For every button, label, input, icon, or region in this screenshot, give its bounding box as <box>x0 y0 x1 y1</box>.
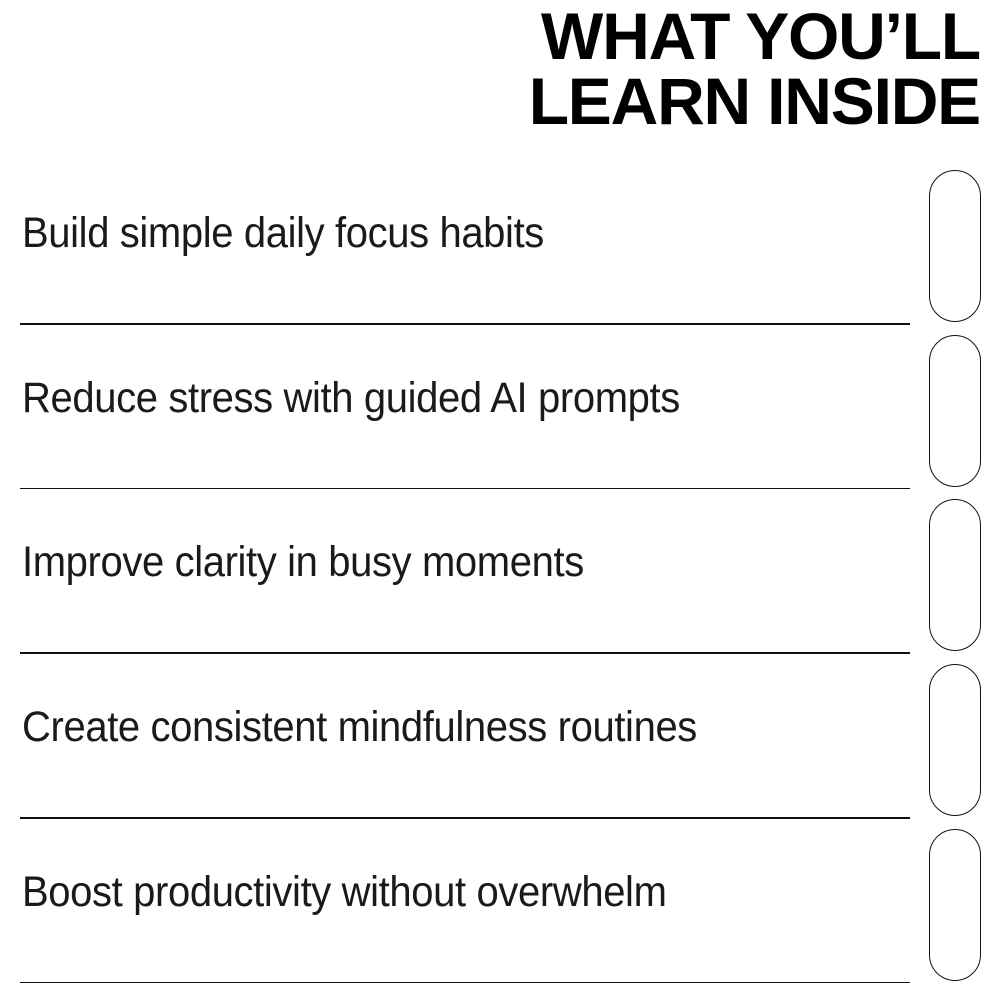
pill-shape-icon-5 <box>929 829 981 981</box>
list-item: Reduce stress with guided AI prompts <box>0 325 1000 490</box>
list-item: Boost productivity without overwhelm <box>0 819 1000 984</box>
page-title-line-1: WHAT YOU’LL <box>0 4 980 69</box>
page-title-line-2: LEARN INSIDE <box>0 69 980 134</box>
list-item: Improve clarity in busy moments <box>0 489 1000 654</box>
pill-decoration-column <box>929 170 981 993</box>
pill-shape-icon-4 <box>929 664 981 816</box>
benefit-label-2: Reduce stress with guided AI prompts <box>22 377 680 420</box>
benefit-label-3: Improve clarity in busy moments <box>22 541 584 584</box>
list-item: Create consistent mindfulness routines <box>0 654 1000 819</box>
page-title: WHAT YOU’LL LEARN INSIDE <box>0 4 980 133</box>
benefit-list: Build simple daily focus habits Reduce s… <box>0 160 1000 983</box>
pill-shape-icon-2 <box>929 335 981 487</box>
benefit-label-1: Build simple daily focus habits <box>22 212 544 255</box>
divider-5 <box>20 982 910 984</box>
pill-shape-icon-3 <box>929 499 981 651</box>
pill-shape-icon-1 <box>929 170 981 322</box>
benefit-label-5: Boost productivity without overwhelm <box>22 871 667 914</box>
list-item: Build simple daily focus habits <box>0 160 1000 325</box>
benefit-label-4: Create consistent mindfulness routines <box>22 706 697 749</box>
